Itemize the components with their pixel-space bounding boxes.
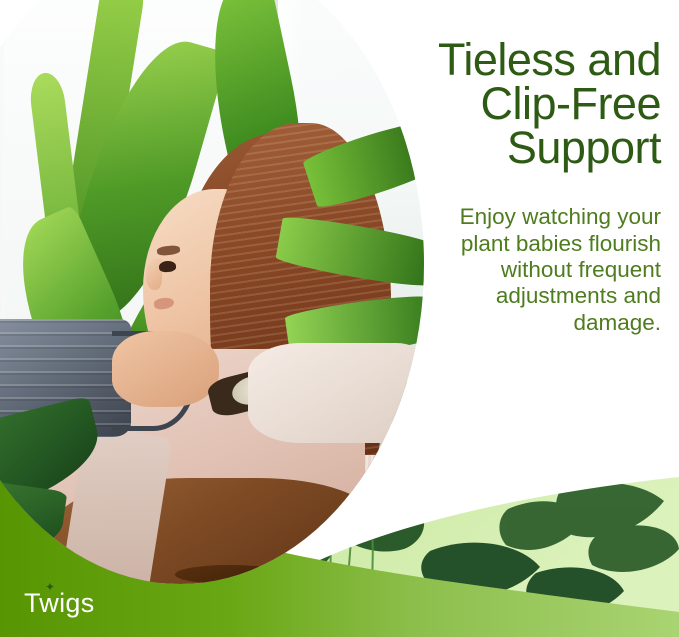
sweater-sleeve: [248, 343, 424, 443]
copy-block: Tieless and Clip-Free Support Enjoy watc…: [397, 38, 661, 336]
lower-scene: [0, 290, 424, 584]
eye: [159, 261, 177, 273]
eyebrow: [156, 245, 179, 256]
body-copy: Enjoy watching your plant babies flouris…: [397, 204, 661, 336]
hero-photo-circle: [0, 0, 424, 584]
page-title: Tieless and Clip-Free Support: [397, 38, 661, 170]
poster-canvas: Tieless and Clip-Free Support Enjoy watc…: [0, 0, 679, 637]
star-icon: ✦: [45, 582, 56, 593]
chair-arm-cutout: [175, 565, 285, 584]
brand-wordmark: Twigs: [24, 588, 95, 619]
hand: [112, 331, 219, 408]
